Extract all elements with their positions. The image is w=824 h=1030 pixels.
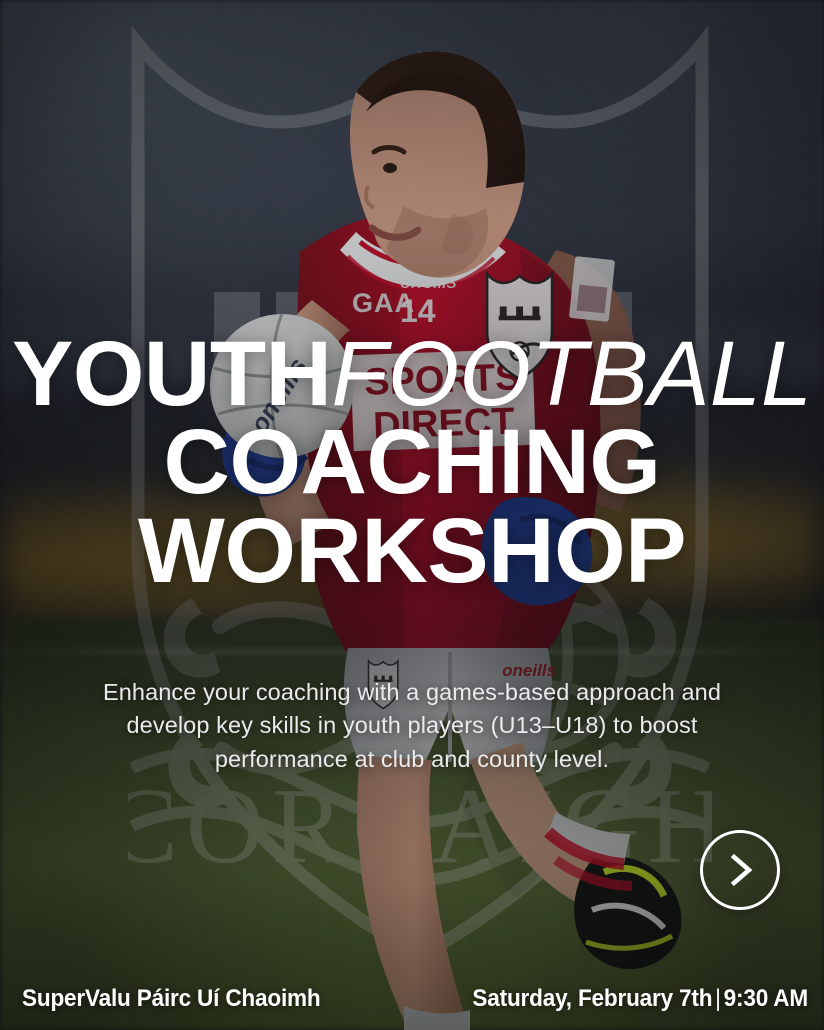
chevron-right-icon xyxy=(723,853,757,887)
poster-content: YOUTHFOOTBALL COACHING WORKSHOP Enhance … xyxy=(0,0,824,1030)
next-button[interactable] xyxy=(700,830,780,910)
headline-word-youth: YOUTH xyxy=(12,323,332,425)
datetime-separator: | xyxy=(712,985,723,1012)
headline-word-football: FOOTBALL xyxy=(331,323,812,425)
headline-line-1: YOUTHFOOTBALL xyxy=(0,330,824,418)
date-label: Saturday, February 7th xyxy=(472,985,712,1012)
headline-line-2: COACHING xyxy=(0,418,824,506)
event-poster: CORCAIGH xyxy=(0,0,824,1030)
datetime-label: Saturday, February 7th|9:30 AM xyxy=(472,985,808,1013)
poster-footer: SuperValu Páirc Uí Chaoimh Saturday, Feb… xyxy=(22,985,808,1013)
headline-line-3: WORKSHOP xyxy=(0,507,824,595)
venue-label: SuperValu Páirc Uí Chaoimh xyxy=(22,985,321,1013)
poster-subtitle: Enhance your coaching with a games-based… xyxy=(62,676,762,776)
time-label: 9:30 AM xyxy=(724,985,808,1012)
page-title: YOUTHFOOTBALL COACHING WORKSHOP xyxy=(0,330,824,595)
